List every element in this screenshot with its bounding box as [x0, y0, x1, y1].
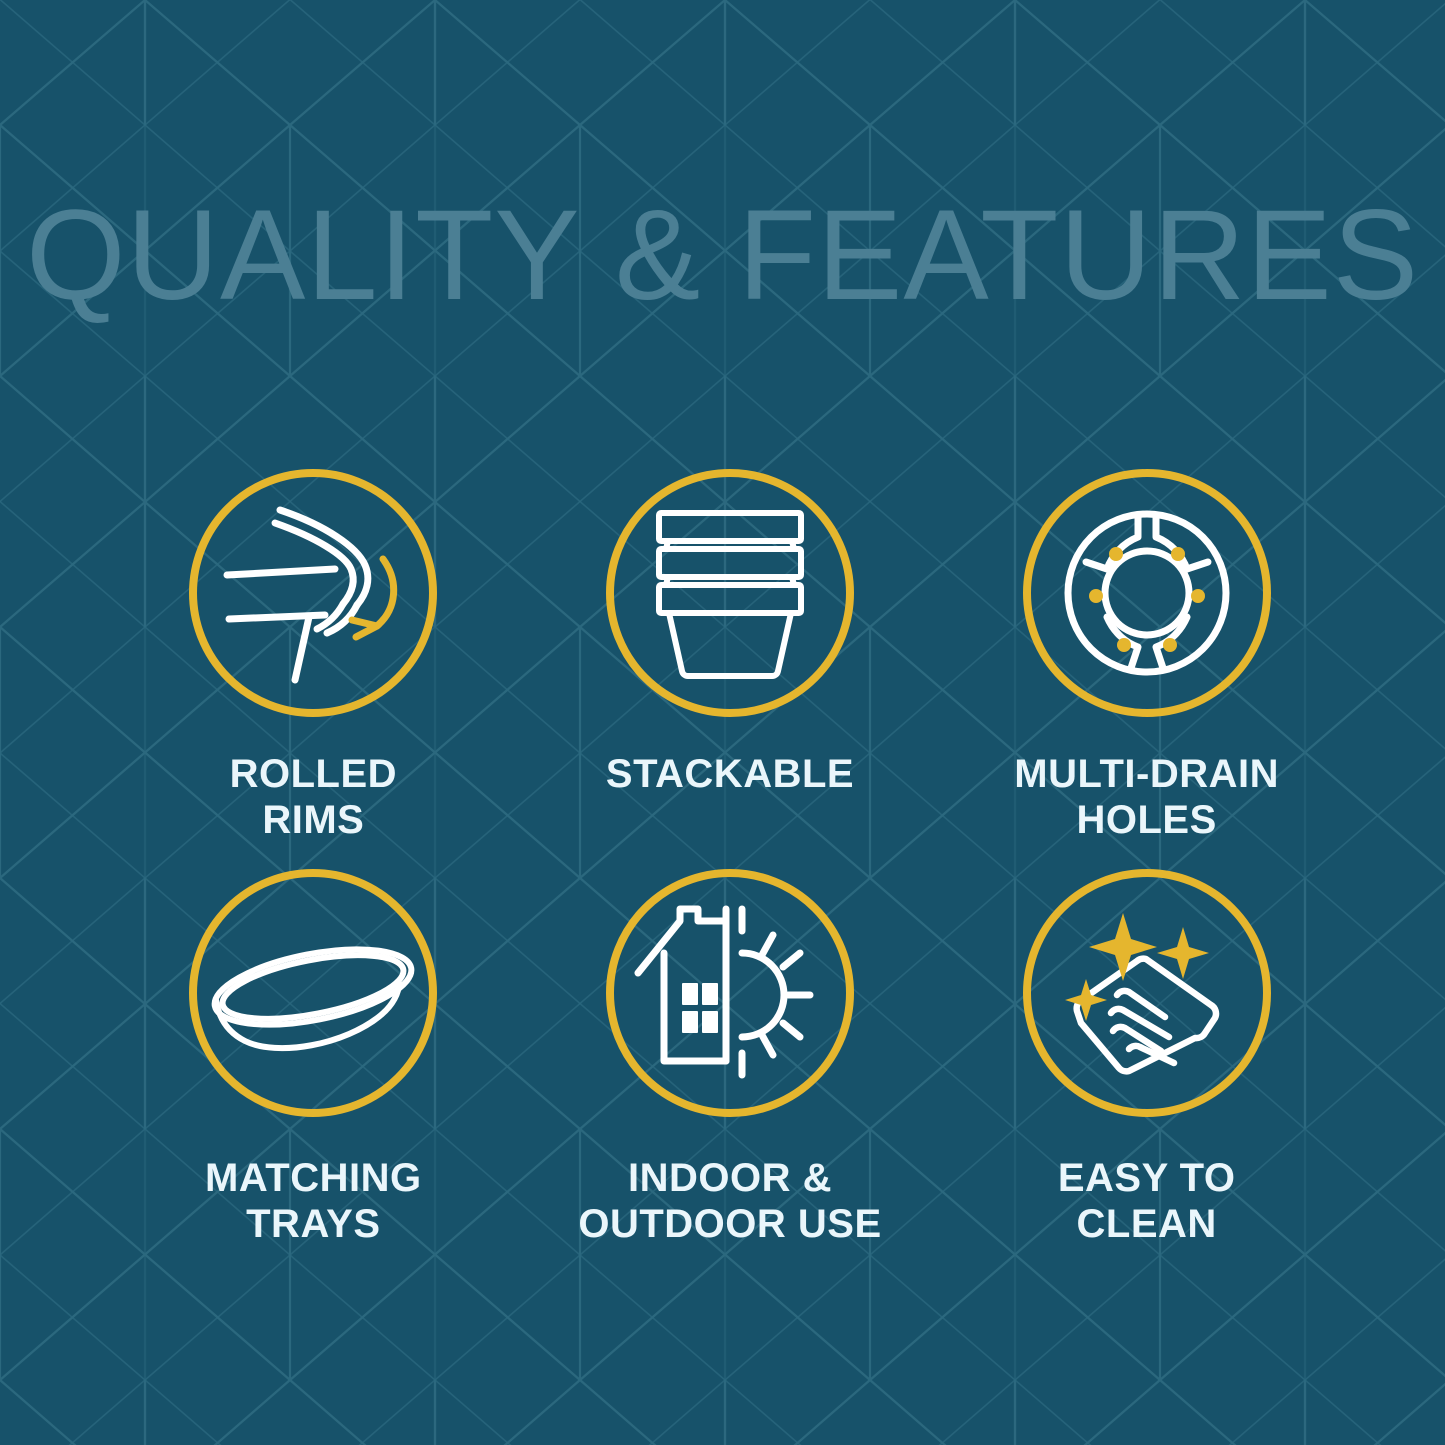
pot-base-drain-holes-icon: [1019, 465, 1275, 721]
feature-multi-drain-holes[interactable]: MULTI-DRAIN HOLES: [938, 465, 1355, 865]
feature-matching-trays[interactable]: MATCHING TRAYS: [105, 865, 522, 1265]
feature-stackable[interactable]: STACKABLE: [522, 465, 939, 865]
feature-label: MATCHING TRAYS: [205, 1155, 422, 1248]
feature-label: MULTI-DRAIN HOLES: [1014, 751, 1279, 844]
page-title: QUALITY & FEATURES: [0, 192, 1445, 320]
features-grid: ROLLED RIMS STACKABLE: [105, 465, 1355, 1265]
feature-easy-to-clean[interactable]: EASY TO CLEAN: [938, 865, 1355, 1265]
infographic-page: QUALITY & FEATURES: [0, 0, 1445, 1445]
saucer-tray-icon: [185, 865, 441, 1121]
feature-rolled-rims[interactable]: ROLLED RIMS: [105, 465, 522, 865]
feature-label: EASY TO CLEAN: [1058, 1155, 1236, 1248]
hand-wiping-cloth-sparkle-icon: [1019, 865, 1275, 1121]
feature-label: ROLLED RIMS: [230, 751, 397, 844]
rolled-rim-cross-section-icon: [185, 465, 441, 721]
stacked-pots-icon: [602, 465, 858, 721]
feature-label: STACKABLE: [606, 751, 854, 797]
feature-indoor-outdoor-use[interactable]: INDOOR & OUTDOOR USE: [522, 865, 939, 1265]
house-and-sun-icon: [602, 865, 858, 1121]
feature-label: INDOOR & OUTDOOR USE: [578, 1155, 881, 1248]
